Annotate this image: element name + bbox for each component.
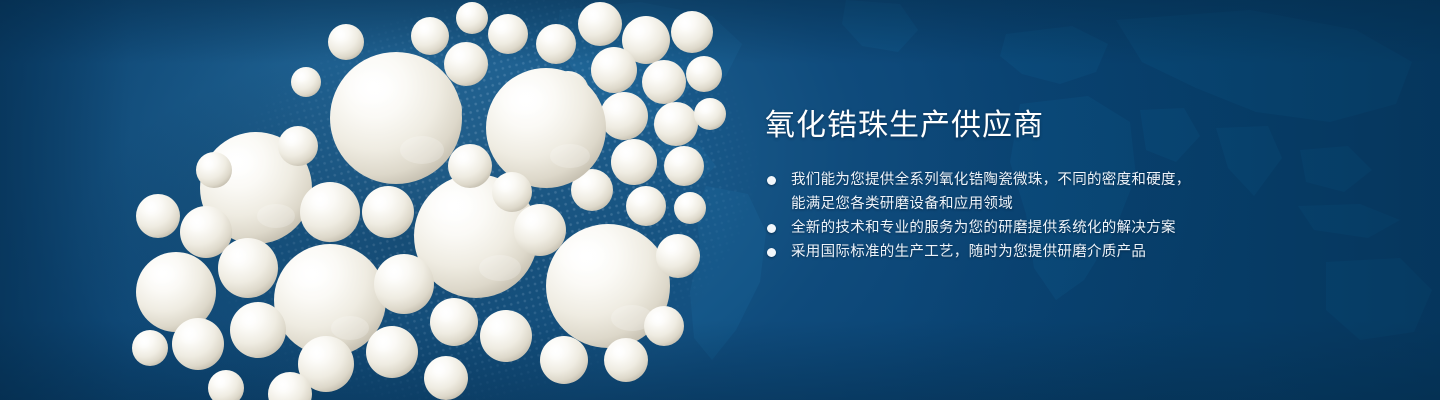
bullet-dot-icon	[767, 176, 776, 185]
bullet-dot-icon	[767, 248, 776, 257]
bullet-line-1: 我们能为您提供全系列氧化锆陶瓷微珠，不同的密度和硬度，	[791, 172, 1191, 188]
bullet-line-1: 全新的技术和专业的服务为您的研磨提供系统化的解决方案	[791, 220, 1176, 236]
page-title: 氧化锆珠生产供应商	[765, 106, 1385, 146]
zirconia-bead-cluster-image	[0, 0, 760, 400]
bullet-line-2: 能满足您各类研磨设备和应用领域	[791, 192, 1385, 216]
list-item: 全新的技术和专业的服务为您的研磨提供系统化的解决方案	[765, 216, 1385, 240]
bullet-line-1: 采用国际标准的生产工艺，随时为您提供研磨介质产品	[791, 244, 1146, 260]
bullet-dot-icon	[767, 224, 776, 233]
feature-bullet-list: 我们能为您提供全系列氧化锆陶瓷微珠，不同的密度和硬度， 能满足您各类研磨设备和应…	[765, 168, 1385, 264]
banner-copy-block: 氧化锆珠生产供应商 我们能为您提供全系列氧化锆陶瓷微珠，不同的密度和硬度， 能满…	[765, 106, 1385, 264]
list-item: 采用国际标准的生产工艺，随时为您提供研磨介质产品	[765, 240, 1385, 264]
list-item: 我们能为您提供全系列氧化锆陶瓷微珠，不同的密度和硬度， 能满足您各类研磨设备和应…	[765, 168, 1385, 216]
hero-banner: 氧化锆珠生产供应商 我们能为您提供全系列氧化锆陶瓷微珠，不同的密度和硬度， 能满…	[0, 0, 1440, 400]
